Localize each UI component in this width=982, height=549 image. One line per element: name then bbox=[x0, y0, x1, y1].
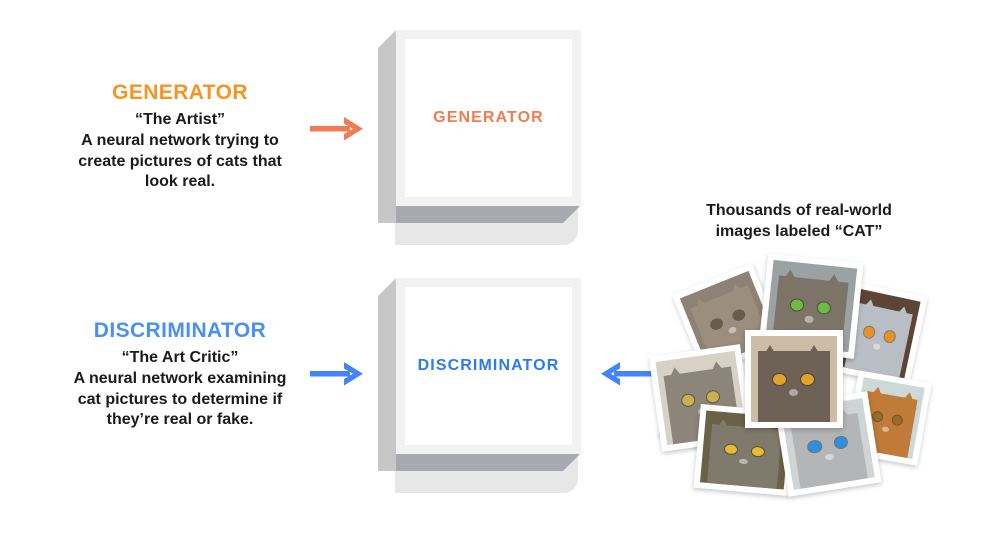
generator-box: GENERATOR bbox=[378, 30, 578, 245]
arrow-left-icon-dataset bbox=[598, 357, 654, 396]
generator-description-line-3: look real. bbox=[40, 172, 320, 192]
generator-description-line-1: A neural network trying to bbox=[40, 131, 320, 151]
arrow-right-icon-discriminator bbox=[310, 357, 366, 396]
generator-description-line-2: create pictures of cats that bbox=[40, 152, 320, 172]
dataset-caption-line-1: Thousands of real-world bbox=[665, 200, 933, 221]
generator-box-front-face: GENERATOR bbox=[396, 30, 581, 206]
discriminator-description-block: DISCRIMINATOR “The Art Critic” A neural … bbox=[40, 318, 320, 431]
cat-photo-image bbox=[751, 336, 837, 422]
discriminator-description-line-1: A neural network examining bbox=[40, 369, 320, 389]
discriminator-box-front-face: DISCRIMINATOR bbox=[396, 278, 581, 454]
cat-photo-tabby-cat-under-blanket bbox=[745, 330, 843, 428]
discriminator-title: DISCRIMINATOR bbox=[40, 318, 320, 345]
generator-box-bottom-face bbox=[396, 205, 581, 223]
generator-box-inner-panel: GENERATOR bbox=[405, 39, 572, 197]
generator-box-label: GENERATOR bbox=[405, 109, 572, 127]
discriminator-nickname: “The Art Critic” bbox=[40, 348, 320, 368]
discriminator-box-bottom-face bbox=[396, 453, 581, 471]
discriminator-description-line-3: they’re real or fake. bbox=[40, 410, 320, 430]
generator-description-block: GENERATOR “The Artist” A neural network … bbox=[40, 80, 320, 193]
generator-title: GENERATOR bbox=[40, 80, 320, 107]
discriminator-box: DISCRIMINATOR bbox=[378, 278, 578, 493]
arrow-right-icon-generator bbox=[310, 112, 366, 151]
dataset-caption: Thousands of real-world images labeled “… bbox=[665, 200, 933, 242]
discriminator-box-inner-panel: DISCRIMINATOR bbox=[405, 287, 572, 445]
discriminator-description-line-2: cat pictures to determine if bbox=[40, 390, 320, 410]
dataset-caption-line-2: images labeled “CAT” bbox=[665, 221, 933, 242]
generator-nickname: “The Artist” bbox=[40, 110, 320, 130]
discriminator-box-label: DISCRIMINATOR bbox=[405, 357, 572, 375]
cat-photo-collage bbox=[655, 258, 905, 506]
